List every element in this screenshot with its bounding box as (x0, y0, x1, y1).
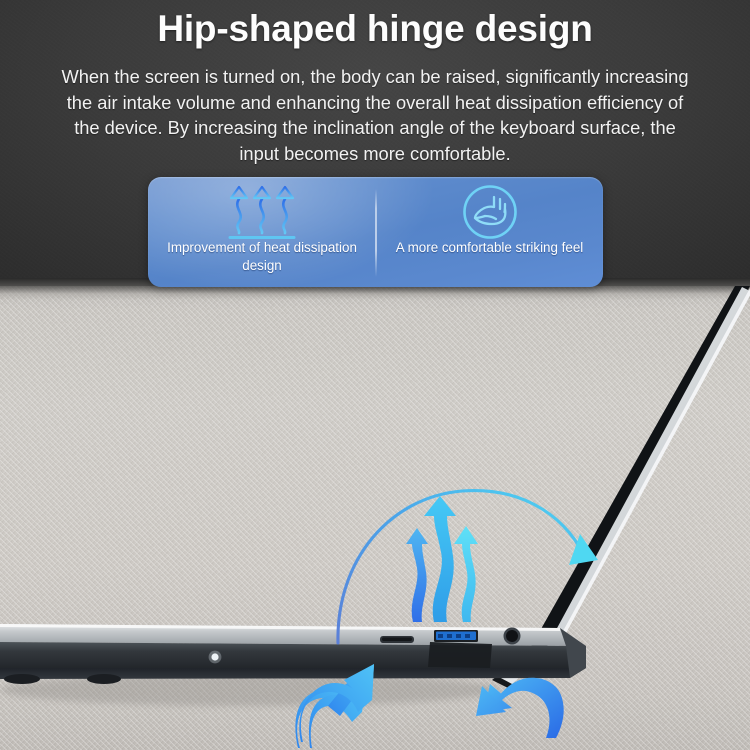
rubber-foot-right (87, 674, 121, 684)
rising-arrow-center (424, 496, 456, 622)
micro-sd-slot (380, 636, 414, 643)
lid-back-panel (543, 287, 750, 658)
laptop-product-illustration (0, 0, 750, 750)
power-led-glow (209, 651, 222, 664)
laptop-body (0, 624, 586, 684)
port-recess (428, 642, 492, 668)
body-side-wall (0, 642, 586, 668)
rising-arrow-right (454, 526, 478, 622)
audio-jack (504, 628, 521, 645)
usb-3-port (434, 630, 478, 642)
laptop-lid (492, 286, 750, 688)
product-feature-page: Hip-shaped hinge design When the screen … (0, 0, 750, 750)
rising-arrow-left (406, 528, 428, 622)
body-bottom (0, 668, 586, 679)
rubber-foot-left (4, 674, 40, 684)
lid-highlight (550, 288, 750, 657)
